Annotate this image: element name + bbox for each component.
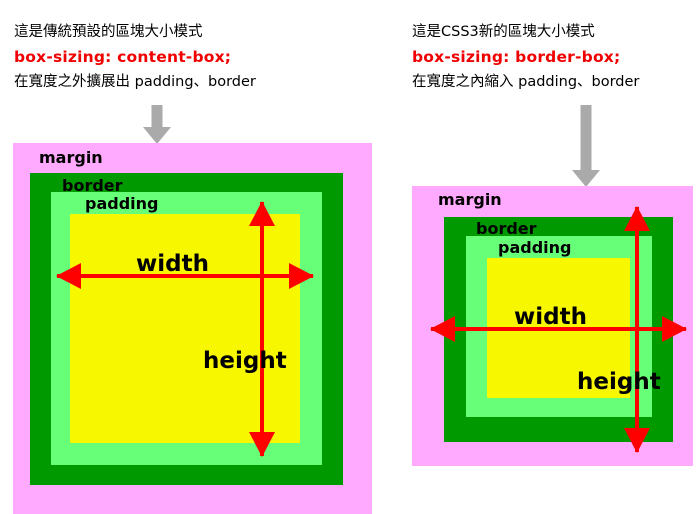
border-label: border	[476, 221, 537, 237]
padding-label: padding	[85, 196, 158, 212]
box-model-border-box: margin border padding width height	[412, 186, 693, 466]
caption-line-1: 這是傳統預設的區塊大小模式	[14, 20, 256, 45]
arrowhead-right-icon	[662, 316, 687, 342]
margin-label: margin	[438, 192, 502, 208]
arrowhead-down-icon	[249, 432, 275, 457]
arrow-head-icon	[572, 170, 600, 187]
caption-content-box: 這是傳統預設的區塊大小模式 box-sizing: content-box; 在…	[14, 20, 256, 95]
caption-code: box-sizing: border-box;	[412, 45, 639, 70]
measure-line	[260, 202, 264, 456]
measure-line	[635, 207, 639, 452]
width-label: width	[514, 306, 587, 329]
margin-label: margin	[39, 150, 103, 166]
flow-down-arrow-right	[572, 105, 600, 187]
box-model-content-box: margin border padding width height	[13, 143, 372, 514]
caption-line-3: 在寬度之外擴展出 padding、border	[14, 70, 256, 95]
height-label: height	[577, 371, 661, 394]
arrowhead-left-icon	[56, 263, 81, 289]
flow-down-arrow-left	[143, 105, 171, 144]
caption-border-box: 這是CSS3新的區塊大小模式 box-sizing: border-box; 在…	[412, 20, 639, 95]
arrow-head-icon	[143, 127, 171, 144]
caption-line-3: 在寬度之內縮入 padding、border	[412, 70, 639, 95]
caption-code: box-sizing: content-box;	[14, 45, 256, 70]
arrowhead-right-icon	[289, 263, 314, 289]
padding-label: padding	[498, 240, 571, 256]
height-label: height	[203, 350, 287, 373]
arrowhead-down-icon	[624, 428, 650, 453]
arrowhead-up-icon	[624, 206, 650, 231]
caption-line-1: 這是CSS3新的區塊大小模式	[412, 20, 639, 45]
arrow-shaft	[581, 105, 592, 171]
arrowhead-up-icon	[249, 201, 275, 226]
diagram-canvas: 這是傳統預設的區塊大小模式 box-sizing: content-box; 在…	[0, 0, 700, 514]
arrow-shaft	[152, 105, 163, 128]
arrowhead-left-icon	[430, 316, 455, 342]
height-measure-arrow	[249, 202, 275, 456]
height-measure-arrow	[624, 207, 650, 452]
width-label: width	[136, 253, 209, 276]
